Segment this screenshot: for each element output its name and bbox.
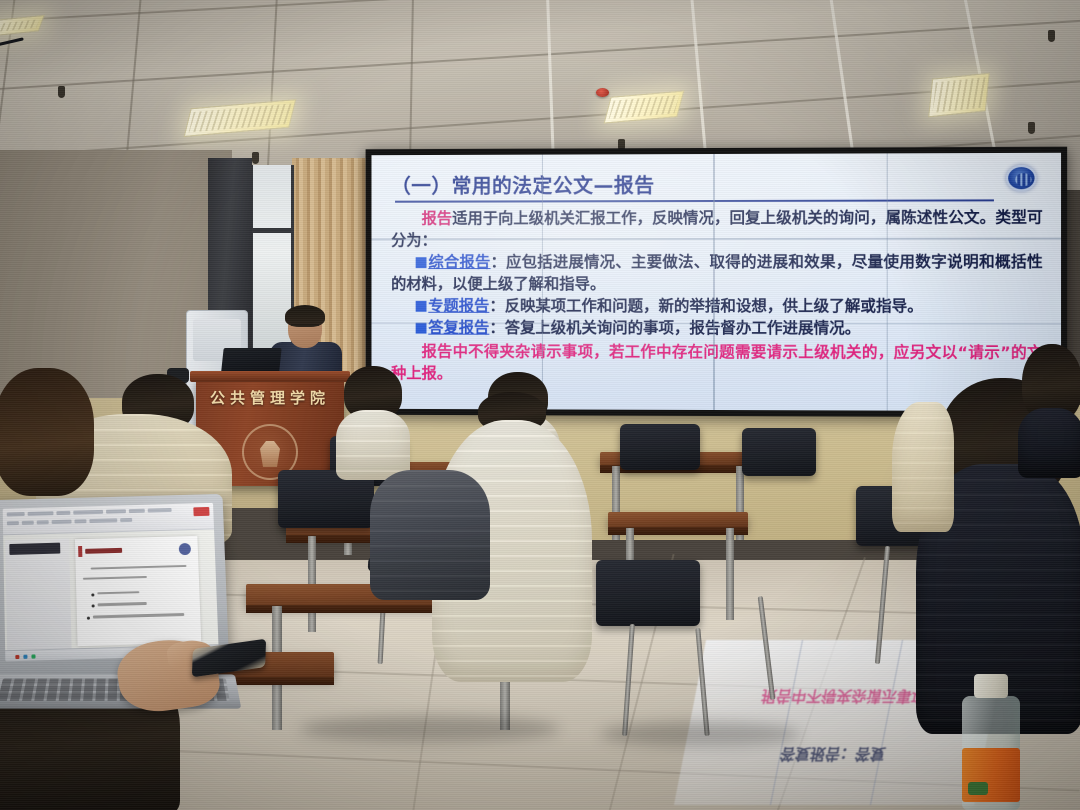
coat (892, 402, 954, 532)
hair (0, 368, 94, 496)
slide-paragraph-intro-text: 适用于向上级机关汇报工作，反映情况，回复上级机关的询问，属陈述性公文。类型可分为… (391, 208, 1043, 249)
screen-surface: （一）常用的法定公文—报告 报告适用于向上级机关汇报工作，反映情况，回复上级机关… (371, 153, 1061, 411)
slide-paragraph-intro: 报告适用于向上级机关汇报工作，反映情况，回复上级机关的询问，属陈述性公文。类型可… (391, 206, 1043, 251)
bullet-separator: ： (489, 319, 504, 337)
student (370, 470, 490, 600)
page-accent-mark (78, 546, 82, 557)
reflection-text-line-2: 答复报告：答复 (696, 744, 970, 765)
student (336, 366, 410, 474)
slide-bullet-item: 专题报告：反映某项工作和问题，新的举措和设想，供上级了解或指导。 (391, 295, 1043, 317)
water-bottle (962, 674, 1020, 810)
title-underline (395, 199, 994, 202)
coat (370, 470, 490, 600)
chair (620, 424, 700, 470)
video-wall-display[interactable]: （一）常用的法定公文—报告 报告适用于向上级机关汇报工作，反映情况，回复上级机关… (366, 147, 1068, 418)
page-heading (85, 547, 122, 553)
slide-bullet-item: 综合报告：应包括进展情况、主要做法、取得的进展和效果，尽量使用数字说明和概括性的… (391, 251, 1043, 295)
bullet-head: 答复报告 (428, 319, 489, 337)
presentation-slide: （一）常用的法定公文—报告 报告适用于向上级机关汇报工作，反映情况，回复上级机关… (371, 153, 1061, 411)
chair (596, 560, 700, 626)
square-bullet-icon (415, 323, 426, 334)
lecture-hall-photo: （一）常用的法定公文—报告 报告适用于向上级机关汇报工作，反映情况，回复上级机关… (0, 0, 1080, 810)
glasses-icon (291, 324, 319, 330)
slide-title: （一）常用的法定公文—报告 (391, 169, 655, 199)
sprinkler-head (1028, 122, 1035, 134)
page-logo-icon (178, 543, 190, 555)
sprinkler-head (1048, 30, 1055, 42)
bullet-text: 反映某项工作和问题，新的举措和设想，供上级了解或指导。 (505, 297, 923, 315)
slide-title-row: （一）常用的法定公文—报告 (391, 167, 1043, 199)
laptop-screen[interactable] (3, 503, 219, 661)
coat (1018, 408, 1080, 478)
bottle-label (962, 748, 1020, 802)
bullet-separator: ： (489, 297, 504, 315)
desk (608, 512, 748, 528)
bottle-cap (974, 674, 1008, 698)
window-mullion (250, 228, 294, 233)
chair (742, 428, 816, 476)
editor-side-panel[interactable] (5, 538, 71, 650)
student (892, 402, 954, 532)
lectern-top (190, 371, 350, 382)
square-bullet-icon (415, 301, 426, 312)
slide-body: 报告适用于向上级机关汇报工作，反映情况，回复上级机关的询问，属陈述性公文。类型可… (391, 206, 1043, 386)
bullet-head: 专题报告 (428, 297, 489, 315)
ceiling-light-panel (928, 73, 990, 118)
editor-ribbon[interactable] (3, 503, 214, 535)
bullet-text: 答复上级机关询问的事项，报告督办工作进展情况。 (505, 319, 861, 337)
bullet-head: 综合报告 (428, 253, 490, 271)
document-page (75, 536, 201, 646)
bullet-separator: ： (491, 253, 507, 271)
smoke-detector-icon (596, 88, 609, 97)
slide-thumbnail[interactable] (9, 543, 60, 555)
square-bullet-icon (415, 257, 426, 268)
student (1022, 344, 1080, 464)
keyword-baogao: 报告 (422, 210, 453, 228)
slide-bullet-item: 答复报告：答复上级机关询问的事项，报告督办工作进展情况。 (391, 317, 1043, 340)
university-emblem-icon (1006, 165, 1036, 191)
sprinkler-head (58, 86, 65, 98)
sprinkler-head (252, 152, 259, 164)
